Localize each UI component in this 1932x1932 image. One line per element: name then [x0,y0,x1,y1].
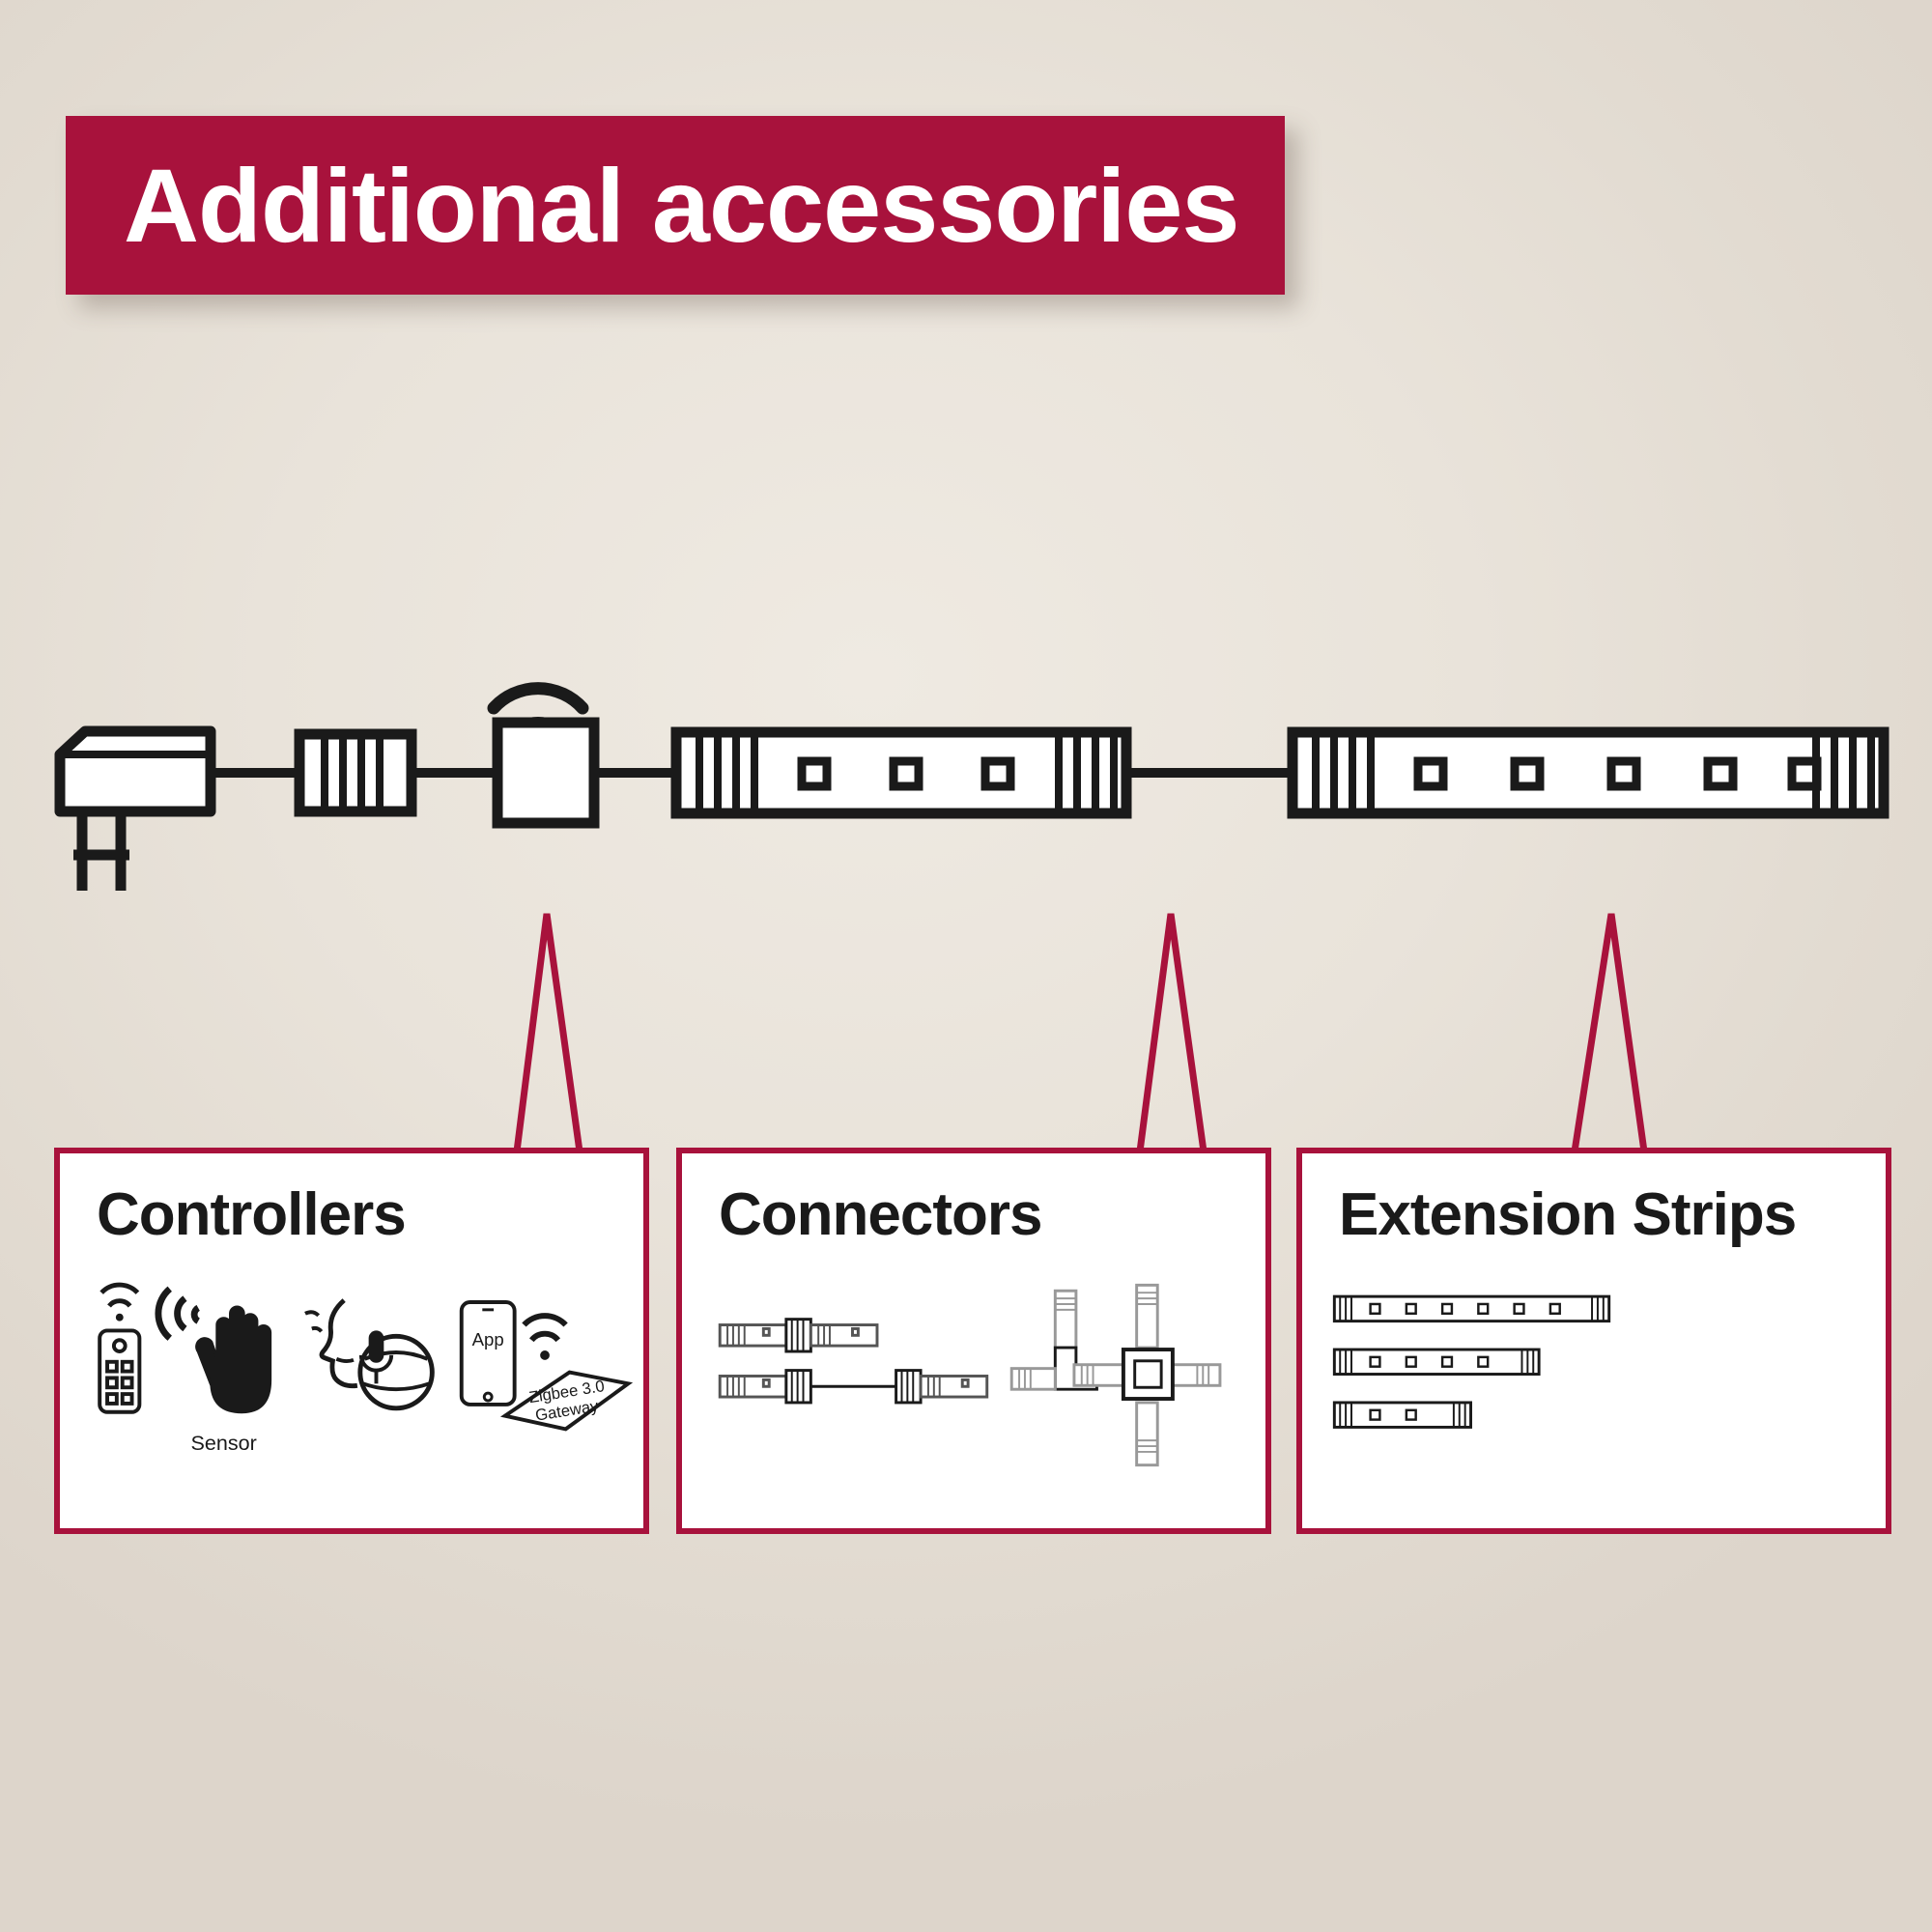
motion-sensor-icon [158,1289,270,1411]
title-banner: Additional accessories [66,116,1285,295]
sensor-label: Sensor [190,1431,256,1455]
strip-to-strip-connector-icon [720,1320,987,1403]
extension-strips-icon-row [1302,1269,1886,1530]
remote-control-icon [99,1285,139,1412]
callout-connectors: Connectors [676,1148,1271,1534]
poster-canvas: Additional accessories [0,0,1932,1932]
led-strip-segment-2-icon [1293,732,1884,813]
led-strip-segment-1-icon [676,732,1126,813]
app-label: App [472,1329,504,1350]
extension-strip-long-icon [1334,1296,1608,1321]
callout-title-connectors: Connectors [719,1180,1041,1249]
page-title: Additional accessories [66,154,1238,258]
controllers-icon-row: Sensor App [60,1269,643,1530]
smartphone-app-icon [462,1302,515,1405]
led-strip-system-chain [0,618,1932,1121]
connectors-icon-row [682,1269,1265,1530]
controller-box-icon [497,723,594,823]
callout-controllers: Controllers [54,1148,649,1534]
callout-extension-strips: Extension Strips [1296,1148,1891,1534]
voice-assistant-icon [305,1300,432,1408]
callout-title-extension-strips: Extension Strips [1339,1180,1796,1249]
connector-plug-1-icon [299,734,412,811]
power-supply-icon [60,731,211,891]
extension-strip-short-icon [1334,1403,1470,1427]
wifi-signal-small-icon [524,1316,565,1360]
cross-connector-icon [1074,1285,1220,1464]
callout-title-controllers: Controllers [97,1180,406,1249]
extension-strip-medium-icon [1334,1350,1539,1374]
